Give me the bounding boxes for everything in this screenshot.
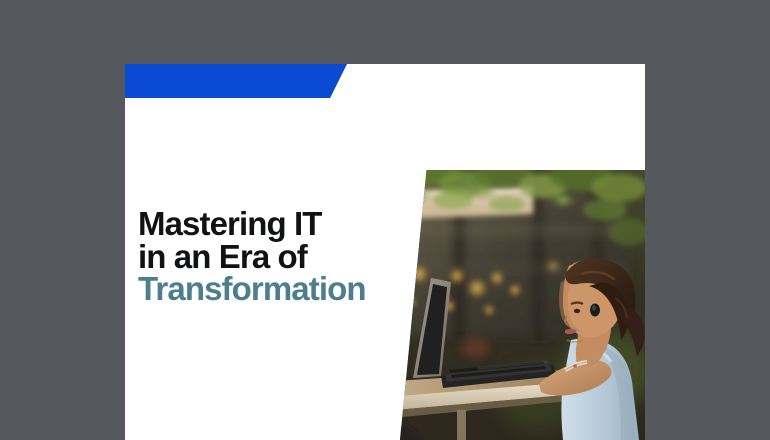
accent-banner — [125, 64, 347, 98]
screenshot-viewport: Mastering IT in an Era of Transformation — [0, 0, 770, 440]
document-page: Mastering IT in an Era of Transformation — [125, 64, 645, 440]
